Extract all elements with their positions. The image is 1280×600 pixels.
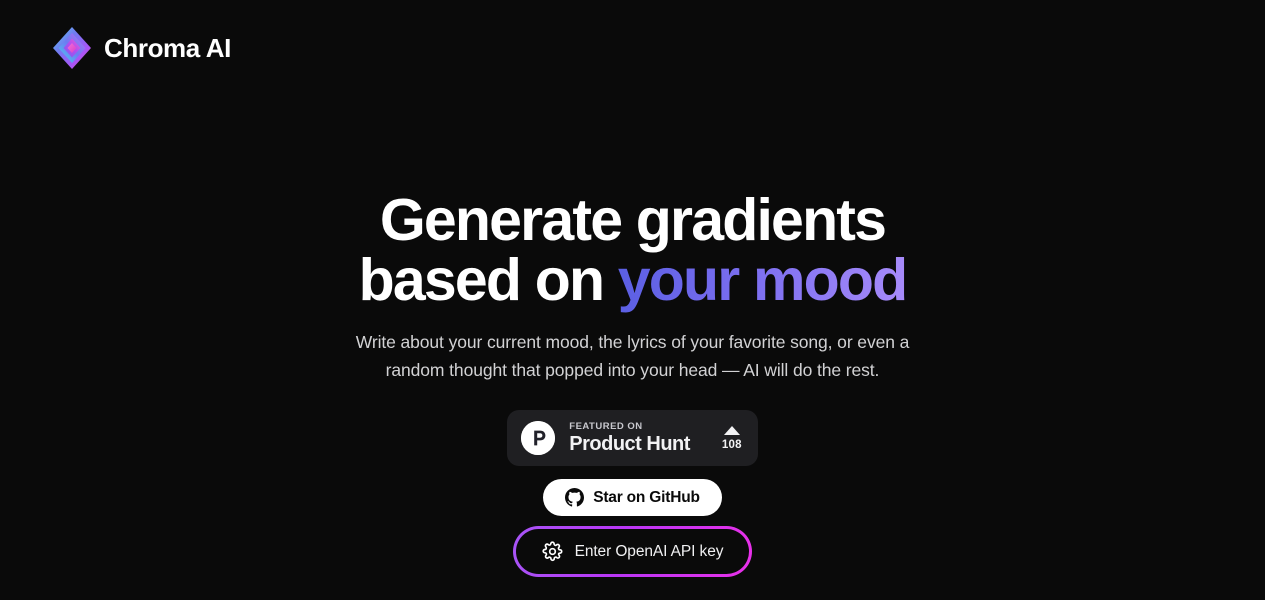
enter-openai-api-key-button[interactable]: Enter OpenAI API key xyxy=(516,529,750,574)
github-icon xyxy=(565,488,584,507)
enter-openai-api-key-label: Enter OpenAI API key xyxy=(575,543,724,561)
product-hunt-upvote-count: 108 xyxy=(722,439,742,451)
gear-icon xyxy=(542,541,563,562)
headline-line-2-plain: based on xyxy=(359,247,618,313)
caret-up-icon xyxy=(724,426,740,435)
page-title: Generate gradients based on your mood xyxy=(359,190,907,310)
product-hunt-upvotes: 108 xyxy=(704,426,742,451)
cta-group: FEATURED ON Product Hunt 108 Star on Git… xyxy=(507,410,757,574)
star-on-github-button[interactable]: Star on GitHub xyxy=(543,479,722,516)
product-hunt-title: Product Hunt xyxy=(569,434,690,454)
page-content: Chroma AI Generate gradients based on yo… xyxy=(0,0,1265,600)
browser-viewport: Chroma AI Generate gradients based on yo… xyxy=(0,0,1280,600)
hero-section: Generate gradients based on your mood Wr… xyxy=(0,0,1265,600)
product-hunt-p-icon xyxy=(521,421,555,455)
product-hunt-badge[interactable]: FEATURED ON Product Hunt 108 xyxy=(507,410,757,466)
hero-subtitle: Write about your current mood, the lyric… xyxy=(348,328,918,384)
star-on-github-label: Star on GitHub xyxy=(593,489,700,507)
headline-line-1: Generate gradients xyxy=(380,187,885,253)
vertical-scrollbar[interactable] xyxy=(1265,0,1280,600)
product-hunt-text: FEATURED ON Product Hunt xyxy=(569,422,690,455)
headline-accent-text: your mood xyxy=(618,247,907,313)
product-hunt-kicker: FEATURED ON xyxy=(569,422,642,432)
